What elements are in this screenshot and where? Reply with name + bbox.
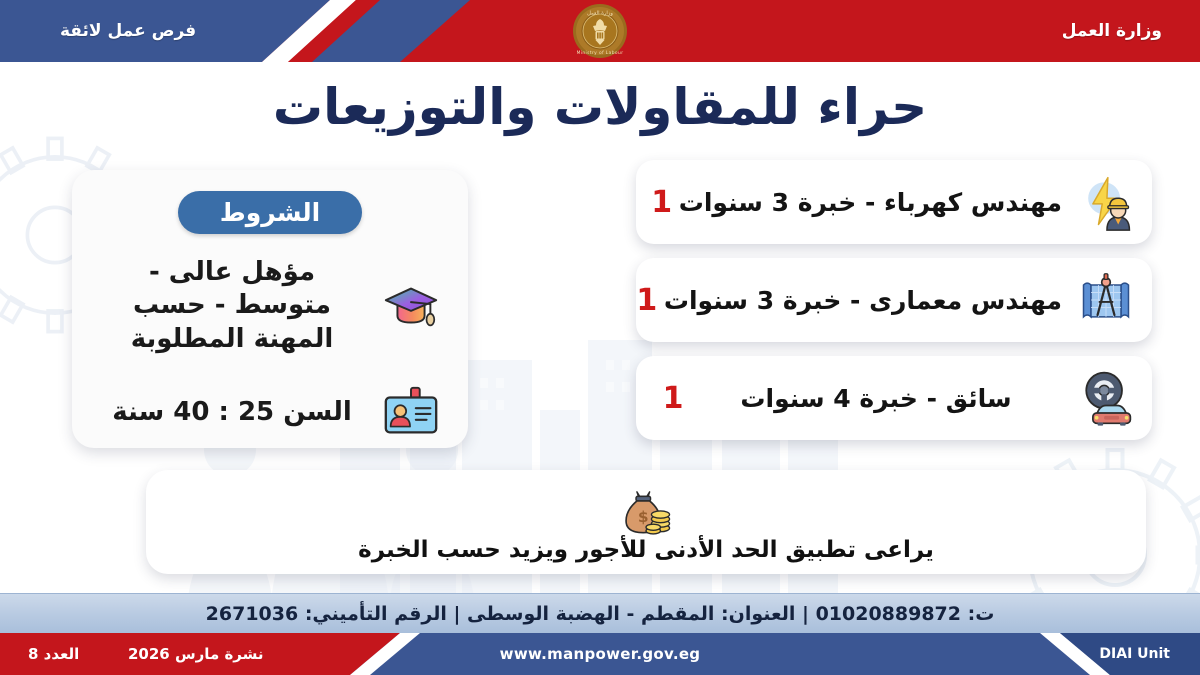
condition-row-qualification: مؤهل عالى - متوسط - حسب المهنة المطلوبة <box>72 256 468 356</box>
header-left-label: فرص عمل لائقة <box>60 0 196 62</box>
electrician-icon <box>1076 172 1136 232</box>
page-footer: العدد 8 نشرة مارس 2026 www.manpower.gov.… <box>0 633 1200 675</box>
salary-note-text: يراعى تطبيق الحد الأدنى للأجور ويزيد حسب… <box>358 537 934 563</box>
job-title-architect: مهندس معمارى - خبرة 3 سنوات <box>664 286 1066 315</box>
svg-text:$: $ <box>638 508 649 526</box>
page-header: فرص عمل لائقة وزارة العمل وزارة العمل Mi… <box>0 0 1200 62</box>
contact-strip: ت: 01020889872 | العنوان: المقطم - الهضب… <box>0 593 1200 633</box>
salary-note-card: $ يراعى تطبيق الحد الأدنى للأجور ويزيد ح… <box>146 470 1146 574</box>
ministry-of-labour-seal-icon: وزارة العمل Ministry of Labour <box>560 2 640 60</box>
jobs-list: مهندس كهرباء - خبرة 3 سنوات 1 مهندس معما <box>636 160 1152 454</box>
job-card-driver[interactable]: سائق - خبرة 4 سنوات 1 <box>636 356 1152 440</box>
condition-row-age: السن 25 : 40 سنة <box>72 382 468 444</box>
conditions-card: الشروط مؤهل عالى - متوسط - حسب المهنة ال… <box>72 170 468 448</box>
condition-qualification-text: مؤهل عالى - متوسط - حسب المهنة المطلوبة <box>98 256 366 356</box>
footer-unit: DIAI Unit <box>1099 633 1170 675</box>
svg-text:وزارة العمل: وزارة العمل <box>587 11 613 17</box>
money-bag-icon: $ <box>617 481 675 539</box>
header-right-label: وزارة العمل <box>1062 0 1162 62</box>
architect-blueprint-icon <box>1076 270 1136 330</box>
job-title-driver: سائق - خبرة 4 سنوات <box>690 384 1066 413</box>
job-title-electrical-engineer: مهندس كهرباء - خبرة 3 سنوات <box>679 188 1066 217</box>
job-count-driver: 1 <box>656 381 690 416</box>
job-card-electrical-engineer[interactable]: مهندس كهرباء - خبرة 3 سنوات 1 <box>636 160 1152 244</box>
job-card-architect[interactable]: مهندس معمارى - خبرة 3 سنوات 1 <box>636 258 1152 342</box>
id-card-icon <box>380 382 442 444</box>
driver-car-icon <box>1076 368 1136 428</box>
job-count-architect: 1 <box>630 283 664 318</box>
condition-age-text: السن 25 : 40 سنة <box>98 396 366 429</box>
conditions-badge: الشروط <box>178 191 362 234</box>
graduation-cap-icon <box>380 275 442 337</box>
svg-text:Ministry of Labour: Ministry of Labour <box>577 50 624 56</box>
page-title: حراء للمقاولات والتوزيعات <box>0 78 1200 136</box>
contact-line: ت: 01020889872 | العنوان: المقطم - الهضب… <box>206 603 995 625</box>
footer-issue-number: العدد 8 <box>28 633 79 675</box>
footer-website[interactable]: www.manpower.gov.eg <box>500 633 701 675</box>
job-count-electrical-engineer: 1 <box>645 185 679 220</box>
main-content: الشروط مؤهل عالى - متوسط - حسب المهنة ال… <box>0 160 1200 620</box>
footer-bulletin-date: نشرة مارس 2026 <box>128 633 264 675</box>
